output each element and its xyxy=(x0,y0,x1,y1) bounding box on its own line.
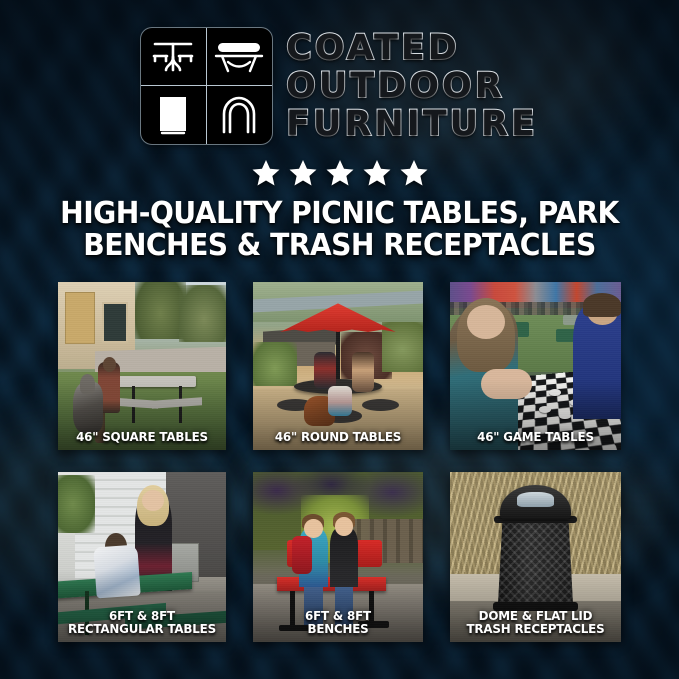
product-caption-line-1: DOME & FLAT LID xyxy=(479,608,593,623)
star-icon xyxy=(288,158,318,188)
product-caption: 6FT & 8FT RECTANGULAR TABLES xyxy=(62,609,222,636)
product-caption: DOME & FLAT LID TRASH RECEPTACLES xyxy=(454,609,616,636)
product-caption-line-1: 6FT & 8FT xyxy=(305,608,371,623)
game-tables-photo xyxy=(450,282,621,450)
product-tile-round-tables[interactable]: 46" ROUND TABLES xyxy=(253,282,423,450)
product-tile-trash-receptacles[interactable]: DOME & FLAT LID TRASH RECEPTACLES xyxy=(450,472,621,642)
bike-rack-icon xyxy=(207,86,273,144)
product-tile-game-tables[interactable]: 46" GAME TABLES xyxy=(450,282,621,450)
product-caption-line-2: RECTANGULAR TABLES xyxy=(66,622,218,636)
brand-name: COATED OUTDOOR FURNITURE xyxy=(286,31,538,142)
product-caption: 6FT & 8FT BENCHES xyxy=(257,609,419,636)
round-tables-photo xyxy=(253,282,423,450)
star-icon xyxy=(325,158,355,188)
star-icon xyxy=(399,158,429,188)
poster-content: COATED OUTDOOR FURNITURE HIGH-QUALITY PI… xyxy=(0,0,679,642)
furniture-grid-logo-icon xyxy=(141,28,272,144)
product-caption-line-1: 46" SQUARE TABLES xyxy=(76,429,208,444)
product-caption-line-1: 6FT & 8FT xyxy=(109,608,175,623)
product-caption: 46" SQUARE TABLES xyxy=(62,430,222,444)
product-tile-square-tables[interactable]: 46" SQUARE TABLES xyxy=(58,282,226,450)
product-caption: 46" ROUND TABLES xyxy=(257,430,419,444)
brand-name-line-3: FURNITURE xyxy=(286,107,538,142)
product-caption-line-2: TRASH RECEPTACLES xyxy=(458,622,613,636)
product-grid: 46" SQUARE TABLES xyxy=(0,282,679,642)
star-rating xyxy=(0,158,679,188)
marketing-poster: COATED OUTDOOR FURNITURE HIGH-QUALITY PI… xyxy=(0,0,679,679)
product-tile-rectangular-tables[interactable]: 6FT & 8FT RECTANGULAR TABLES xyxy=(58,472,226,642)
picnic-table-icon xyxy=(141,28,207,86)
bench-icon xyxy=(207,28,273,86)
star-icon xyxy=(251,158,281,188)
product-caption-line-2: BENCHES xyxy=(261,622,415,636)
brand-name-line-2: OUTDOOR xyxy=(286,69,538,104)
product-caption: 46" GAME TABLES xyxy=(454,430,616,444)
product-caption-line-1: 46" GAME TABLES xyxy=(477,429,594,444)
brand-name-line-1: COATED xyxy=(286,31,538,66)
square-tables-photo xyxy=(58,282,226,450)
brand-logo: COATED OUTDOOR FURNITURE xyxy=(0,0,679,144)
product-caption-line-1: 46" ROUND TABLES xyxy=(275,429,401,444)
trash-receptacle-icon xyxy=(141,86,207,144)
product-tile-benches[interactable]: 6FT & 8FT BENCHES xyxy=(253,472,423,642)
headline-line-1: HIGH-QUALITY PICNIC TABLES, PARK xyxy=(60,196,619,231)
headline-line-2: BENCHES & TRASH RECEPTACLES xyxy=(47,230,633,262)
star-icon xyxy=(362,158,392,188)
page-title: HIGH-QUALITY PICNIC TABLES, PARK BENCHES… xyxy=(20,198,658,262)
